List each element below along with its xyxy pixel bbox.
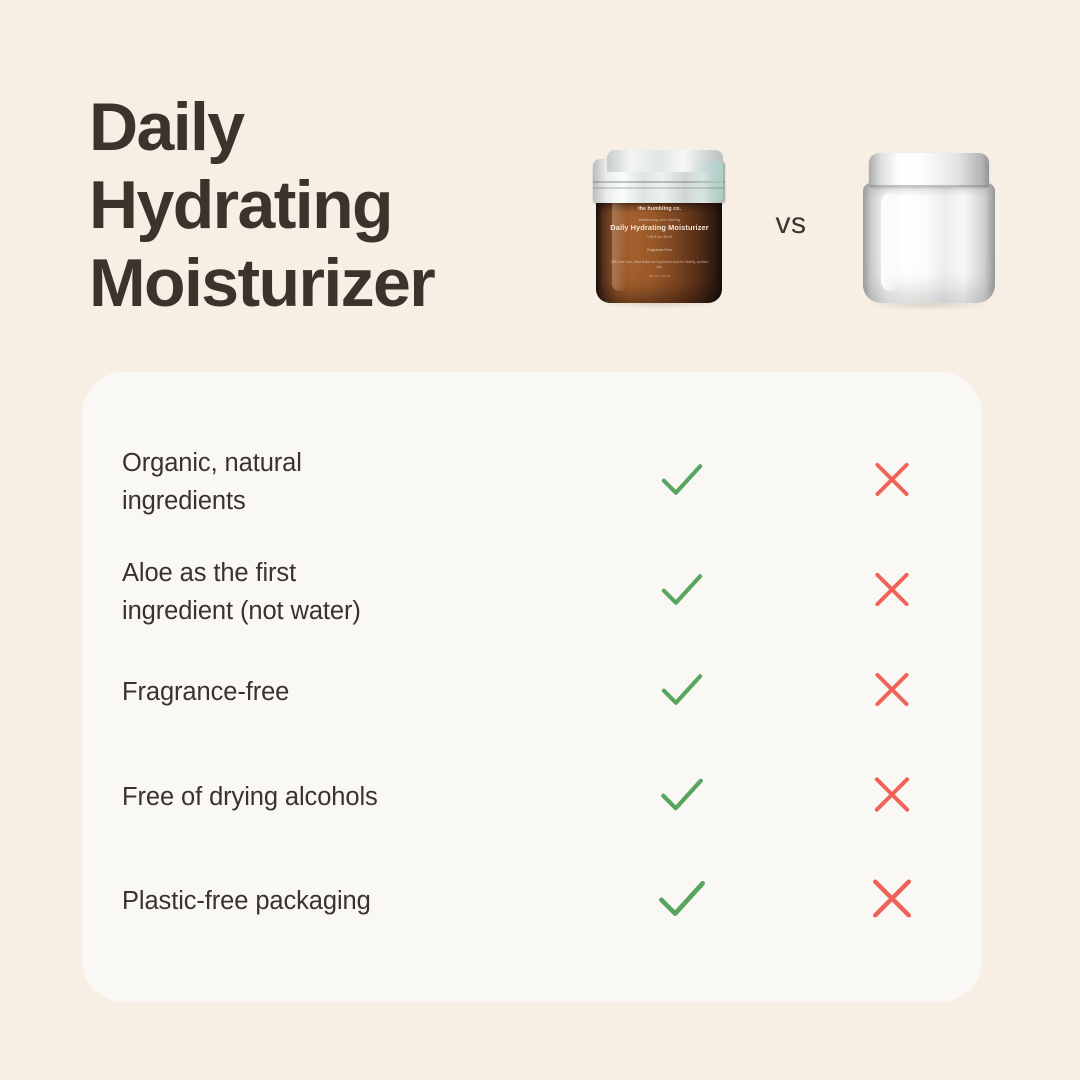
competitor-result-cell	[827, 663, 957, 722]
jar-label-size: 1.69 fl oz / 50 ml	[608, 235, 712, 240]
product-comparison-visual: the humbling co. Moisturizing and Calmin…	[575, 145, 1005, 310]
competitor-result-cell	[827, 868, 957, 935]
brand-result-cell	[602, 661, 762, 724]
jar-lid-highlight	[691, 161, 723, 201]
header: Daily Hydrating Moisturizer the humbling…	[0, 0, 1080, 372]
versus-label: vs	[761, 207, 821, 241]
table-row: Aloe as the first ingredient (not water)	[82, 552, 982, 632]
cross-icon	[864, 767, 920, 828]
check-icon	[652, 765, 712, 830]
check-icon	[649, 866, 715, 937]
bottom-spacer	[0, 1002, 1080, 1080]
brand-result-cell	[602, 765, 762, 830]
brand-result-cell	[602, 451, 762, 514]
feature-label: Plastic-free packaging	[122, 882, 552, 920]
jar-body	[863, 183, 995, 303]
cross-icon	[865, 563, 919, 622]
jar-label-claim: Fragrance Free	[608, 248, 712, 253]
table-row: Organic, natural ingredients	[82, 442, 982, 522]
comparison-infographic: Daily Hydrating Moisturizer the humbling…	[0, 0, 1080, 1080]
table-row: Plastic-free packaging	[82, 861, 982, 941]
cross-icon	[865, 453, 919, 512]
jar-label-eyebrow: Moisturizing and Calming	[608, 218, 712, 223]
brand-result-cell	[602, 866, 762, 937]
check-icon	[653, 451, 711, 514]
page-title: Daily Hydrating Moisturizer	[89, 88, 559, 322]
competitor-result-cell	[827, 453, 957, 512]
brand-product-jar-image: the humbling co. Moisturizing and Calmin…	[587, 145, 732, 305]
jar-label-footer: NET WT 1.69 OZ	[608, 274, 712, 278]
feature-label: Fragrance-free	[122, 673, 552, 711]
comparison-card: Organic, natural ingredientsAloe as the …	[82, 372, 982, 1002]
competitor-result-cell	[827, 563, 957, 622]
jar-lid	[593, 159, 725, 203]
cross-icon	[861, 868, 923, 935]
competitor-result-cell	[827, 767, 957, 828]
competitor-product-jar-image	[855, 145, 1003, 307]
jar-lid	[869, 153, 989, 187]
jar-label-description: With Aloe Vera, Shea Butter and Hyaluron…	[608, 260, 712, 269]
jar-label-logo: the humbling co.	[608, 207, 712, 212]
feature-label: Aloe as the first ingredient (not water)	[122, 554, 552, 630]
check-icon	[653, 661, 711, 724]
jar-label: the humbling co. Moisturizing and Calmin…	[608, 207, 712, 278]
cross-icon	[865, 663, 919, 722]
check-icon	[653, 561, 711, 624]
brand-result-cell	[602, 561, 762, 624]
comparison-table: Organic, natural ingredientsAloe as the …	[82, 372, 982, 1002]
jar-label-name: Daily Hydrating Moisturizer	[608, 224, 712, 233]
feature-label: Free of drying alcohols	[122, 778, 552, 816]
table-row: Free of drying alcohols	[82, 757, 982, 837]
table-row: Fragrance-free	[82, 652, 982, 732]
feature-label: Organic, natural ingredients	[122, 444, 552, 520]
